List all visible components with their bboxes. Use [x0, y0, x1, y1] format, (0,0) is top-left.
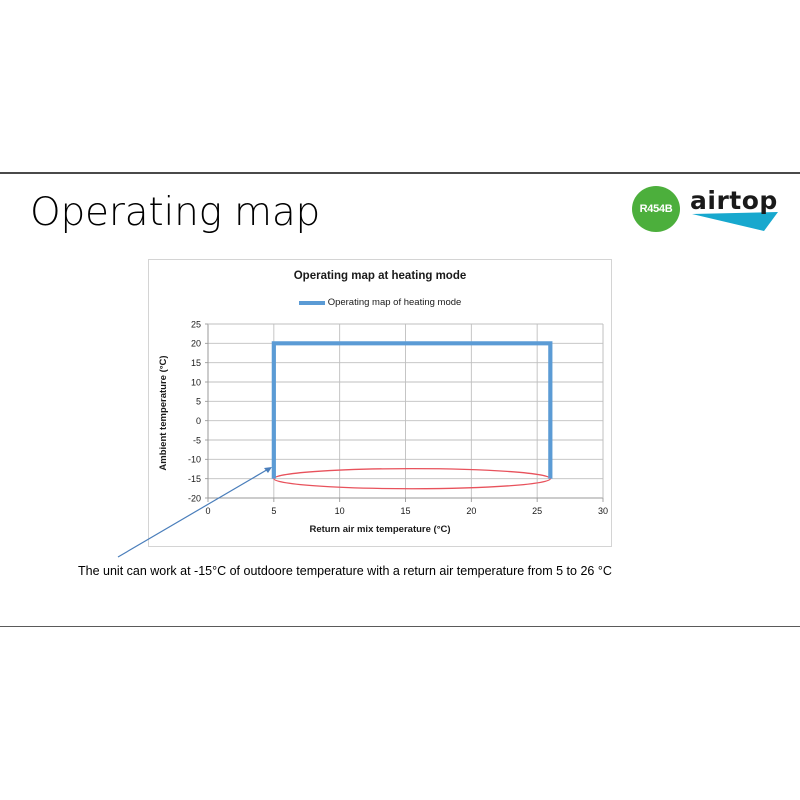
r454b-badge-label: R454B: [640, 203, 673, 215]
svg-text:15: 15: [400, 506, 410, 516]
x-tick-labels: 051015202530: [205, 506, 608, 516]
svg-text:5: 5: [271, 506, 276, 516]
svg-text:10: 10: [335, 506, 345, 516]
svg-text:30: 30: [598, 506, 608, 516]
caption-text: The unit can work at -15°C of outdoore t…: [78, 564, 612, 578]
svg-text:0: 0: [205, 506, 210, 516]
logo-cluster: R454B airtop: [630, 184, 780, 236]
svg-text:-10: -10: [188, 455, 201, 465]
svg-text:15: 15: [191, 358, 201, 368]
page-title: Operating map: [30, 190, 320, 235]
svg-text:-5: -5: [193, 435, 201, 445]
svg-text:-20: -20: [188, 493, 201, 503]
plot-area: 2520151050-5-10-15-20 051015202530: [149, 260, 613, 548]
r454b-badge-icon: R454B: [632, 186, 680, 232]
slide-canvas: Operating map R454B airtop Operating map…: [0, 0, 800, 800]
svg-text:25: 25: [191, 319, 201, 329]
operating-map-chart: Operating map at heating mode Operating …: [148, 259, 612, 547]
svg-text:5: 5: [196, 397, 201, 407]
header-divider: [0, 172, 800, 174]
svg-text:25: 25: [532, 506, 542, 516]
svg-text:0: 0: [196, 416, 201, 426]
svg-text:20: 20: [466, 506, 476, 516]
svg-text:-15: -15: [188, 474, 201, 484]
airtop-wordmark: airtop: [690, 188, 778, 213]
y-tick-labels: 2520151050-5-10-15-20: [188, 319, 201, 503]
footer-divider: [0, 626, 800, 627]
series-line: [274, 343, 551, 478]
svg-text:10: 10: [191, 377, 201, 387]
svg-text:20: 20: [191, 339, 201, 349]
airtop-logo: airtop: [690, 188, 780, 232]
